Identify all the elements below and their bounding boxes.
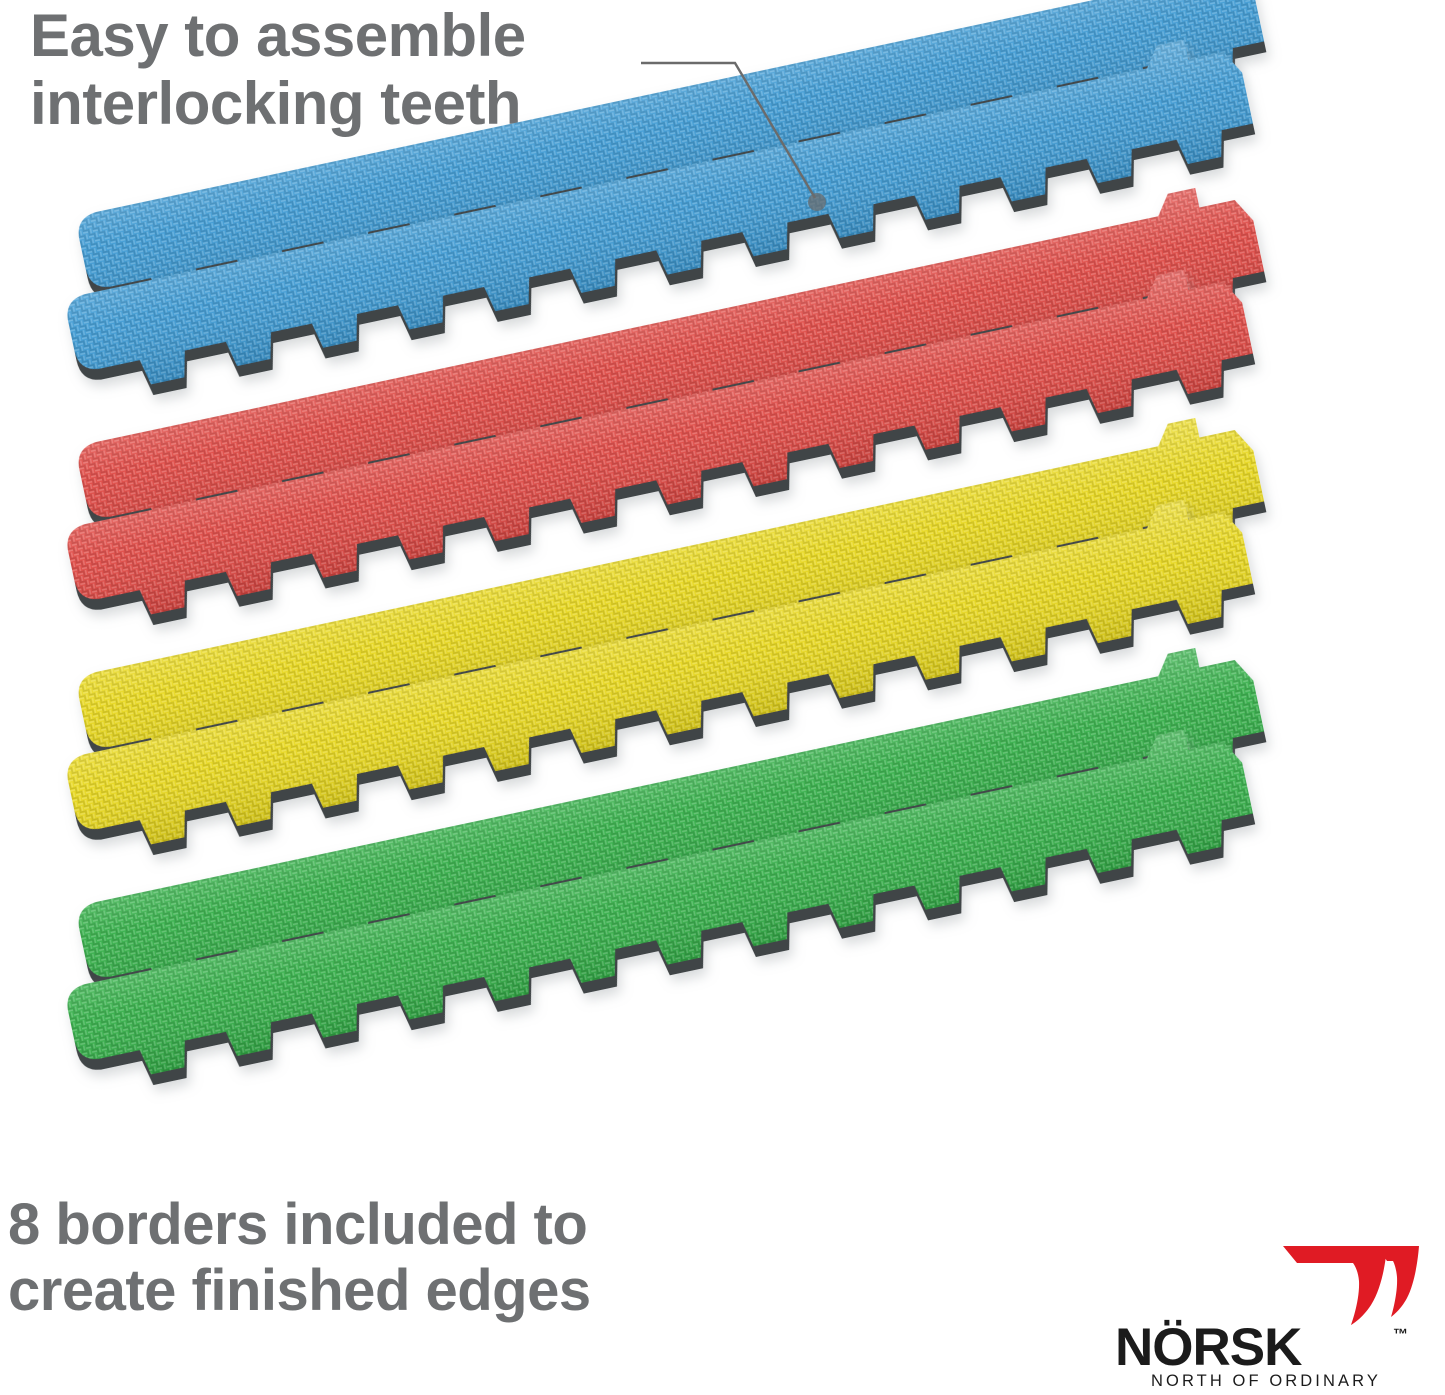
norsk-wordmark: NÖRSK ™ NORTH OF ORDINARY	[1105, 1319, 1435, 1391]
norsk-chevron-mark-icon	[1267, 1243, 1419, 1327]
trademark-symbol: ™	[1393, 1326, 1408, 1343]
brand-name-text: NÖRSK	[1115, 1319, 1302, 1377]
border-strips-illustration	[0, 0, 1445, 1395]
brand-logo: NÖRSK ™ NORTH OF ORDINARY	[1105, 1243, 1435, 1391]
product-feature-image: Easy to assemble interlocking teeth	[0, 0, 1445, 1395]
bottom-caption-text: 8 borders included to create finished ed…	[8, 1192, 728, 1323]
brand-tagline-text: NORTH OF ORDINARY	[1151, 1372, 1381, 1390]
